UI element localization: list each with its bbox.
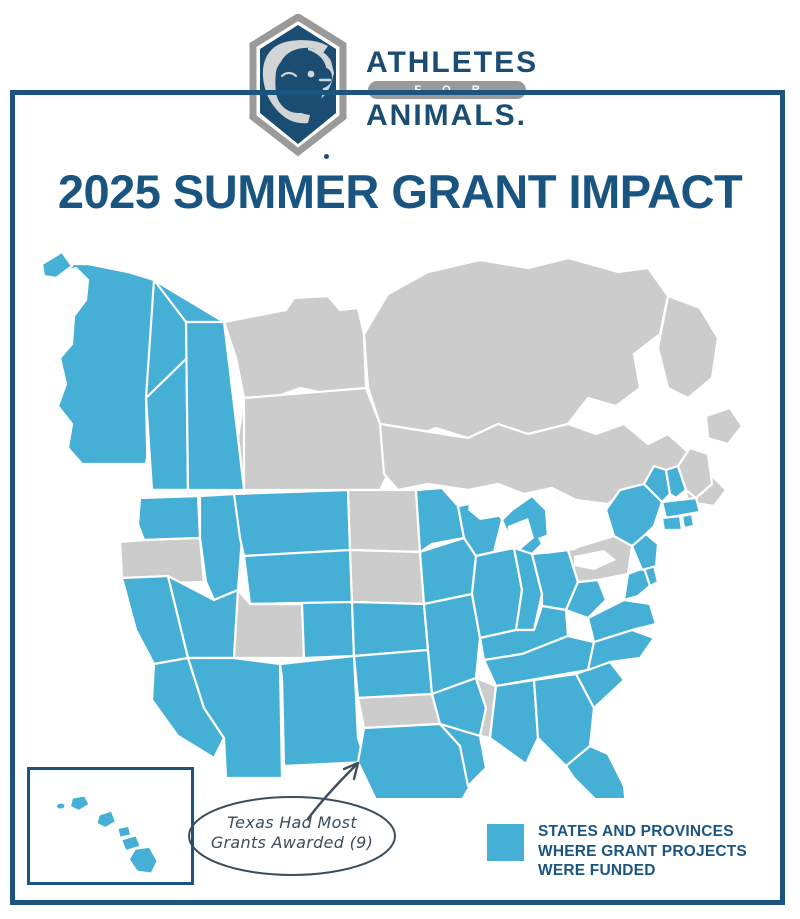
north-america-choropleth-map xyxy=(28,238,772,798)
map-legend: STATES AND PROVINCES WHERE GRANT PROJECT… xyxy=(487,822,747,881)
annotation-line-2: Grants Awarded (9) xyxy=(186,833,398,853)
state-north-dakota xyxy=(348,490,420,552)
legend-label: STATES AND PROVINCES WHERE GRANT PROJECT… xyxy=(538,822,747,881)
legend-line-1: STATES AND PROVINCES xyxy=(538,822,747,842)
annotation-line-1: Texas Had Most xyxy=(186,813,398,833)
state-oklahoma xyxy=(358,694,440,728)
state-connecticut xyxy=(662,516,682,530)
legend-line-3: WERE FUNDED xyxy=(538,861,747,881)
state-nebraska xyxy=(352,602,428,656)
state-massachusetts xyxy=(662,498,700,518)
brand-name-line1: ATHLETES xyxy=(366,48,558,79)
page-title: 2025 SUMMER GRANT IMPACT xyxy=(0,164,800,219)
state-washington xyxy=(138,496,200,540)
state-south-dakota xyxy=(350,550,424,604)
poster-canvas: ATHLETES F O R ANIMALS. 2025 SUMMER GRAN… xyxy=(0,0,800,919)
hawaii-inset-box xyxy=(27,767,194,885)
annotation-text: Texas Had Most Grants Awarded (9) xyxy=(186,813,398,852)
canada-funded-provinces xyxy=(42,256,244,490)
legend-line-2: WHERE GRANT PROJECTS xyxy=(538,842,747,862)
state-wyoming xyxy=(244,550,352,604)
state-rhode-island xyxy=(682,514,694,528)
texas-annotation: Texas Had Most Grants Awarded (9) xyxy=(186,795,398,877)
state-alabama xyxy=(490,680,538,764)
state-kansas xyxy=(354,650,432,698)
state-alaska-tip xyxy=(42,252,72,278)
state-montana xyxy=(234,490,350,556)
hawaii-islands xyxy=(57,797,157,873)
legend-color-swatch xyxy=(487,824,524,861)
state-illinois xyxy=(472,548,522,638)
